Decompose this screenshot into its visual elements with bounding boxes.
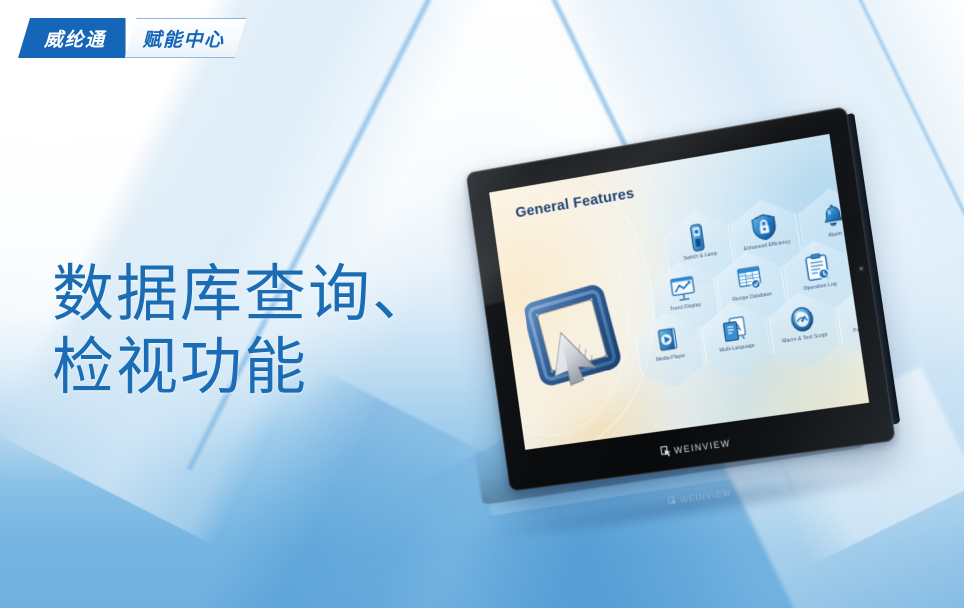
feature-tile-label: Recipe Database <box>722 291 784 306</box>
hmi-device-body: General Features <box>466 106 896 491</box>
page-title: 数据库查询、 检视功能 <box>52 258 436 404</box>
hmi-screen: General Features <box>489 134 869 451</box>
feature-hex-row: Switch & Lamp <box>662 171 870 291</box>
trend-chart-icon <box>668 273 697 305</box>
feature-tile-label: Macro & Text Script <box>774 332 837 347</box>
hex-background <box>780 235 858 322</box>
svg-text:A: A <box>733 323 742 335</box>
feature-tile-media-player[interactable]: Media Player <box>633 308 708 393</box>
feature-tile-recipe-database[interactable]: Recipe Database <box>713 246 789 332</box>
shield-lock-icon <box>750 211 780 243</box>
hex-background <box>765 288 842 374</box>
feature-tile-label: Pass-through I/O <box>842 322 870 337</box>
feature-tile-label: Enhanced Efficiency <box>736 239 798 255</box>
hex-background <box>795 183 869 270</box>
hmi-brand-text: WEINVIEW <box>673 438 731 456</box>
multi-language-icon: A <box>720 314 750 346</box>
gauge-icon <box>787 304 817 336</box>
hmi-device: General Features <box>455 120 925 520</box>
brand-badge: 威纶通 赋能中心 <box>18 18 247 58</box>
brand-badge-center-label: 赋能中心 <box>125 18 247 58</box>
feature-tile-enhanced-efficiency[interactable]: Enhanced Efficiency <box>728 195 805 281</box>
media-play-icon <box>654 324 683 355</box>
hex-background <box>713 246 789 332</box>
hex-background <box>698 298 774 383</box>
background-wash-top-left <box>0 0 500 480</box>
page-title-line-1: 数据库查询、 <box>52 258 436 331</box>
feature-tile-label: Operation Log <box>789 280 852 295</box>
feature-tile-label: Alarm <box>804 228 867 244</box>
page-title-line-2: 检视功能 <box>52 331 436 404</box>
feature-tile-label: Switch & Lamp <box>670 250 731 265</box>
feature-tile-operation-log[interactable]: Operation Log <box>780 235 858 322</box>
feature-tile-multi-language[interactable]: A Multi-Language <box>698 298 774 383</box>
poster-canvas: 威纶通 赋能中心 数据库查询、 检视功能 WEINVIEW <box>0 0 964 608</box>
feature-tile-label: Multi-Language <box>707 342 769 357</box>
feature-tile-passthrough[interactable]: Pass-through I/O <box>833 277 869 364</box>
feature-tile-alarm[interactable]: Alarm <box>795 183 869 270</box>
feature-hex-row: Trend Display <box>647 224 869 342</box>
switch-lamp-icon <box>683 222 712 254</box>
hex-background <box>728 195 805 281</box>
hex-background <box>833 277 869 364</box>
brand-badge-company-label: 威纶通 <box>18 18 126 58</box>
touch-hand-icon <box>660 445 672 458</box>
feature-hex-grid: Switch & Lamp <box>619 188 862 417</box>
hmi-device-bezel: General Features <box>466 106 896 491</box>
hmi-screen-title: General Features <box>514 185 635 222</box>
touch-frame-hand-icon <box>522 276 639 414</box>
hmi-power-led <box>860 267 864 271</box>
clipboard-clock-icon <box>802 252 832 284</box>
passthrough-icon <box>855 293 869 325</box>
recipe-table-icon <box>735 262 765 294</box>
bell-icon <box>817 200 847 232</box>
feature-tile-macro-script[interactable]: Macro & Text Script <box>765 288 842 374</box>
